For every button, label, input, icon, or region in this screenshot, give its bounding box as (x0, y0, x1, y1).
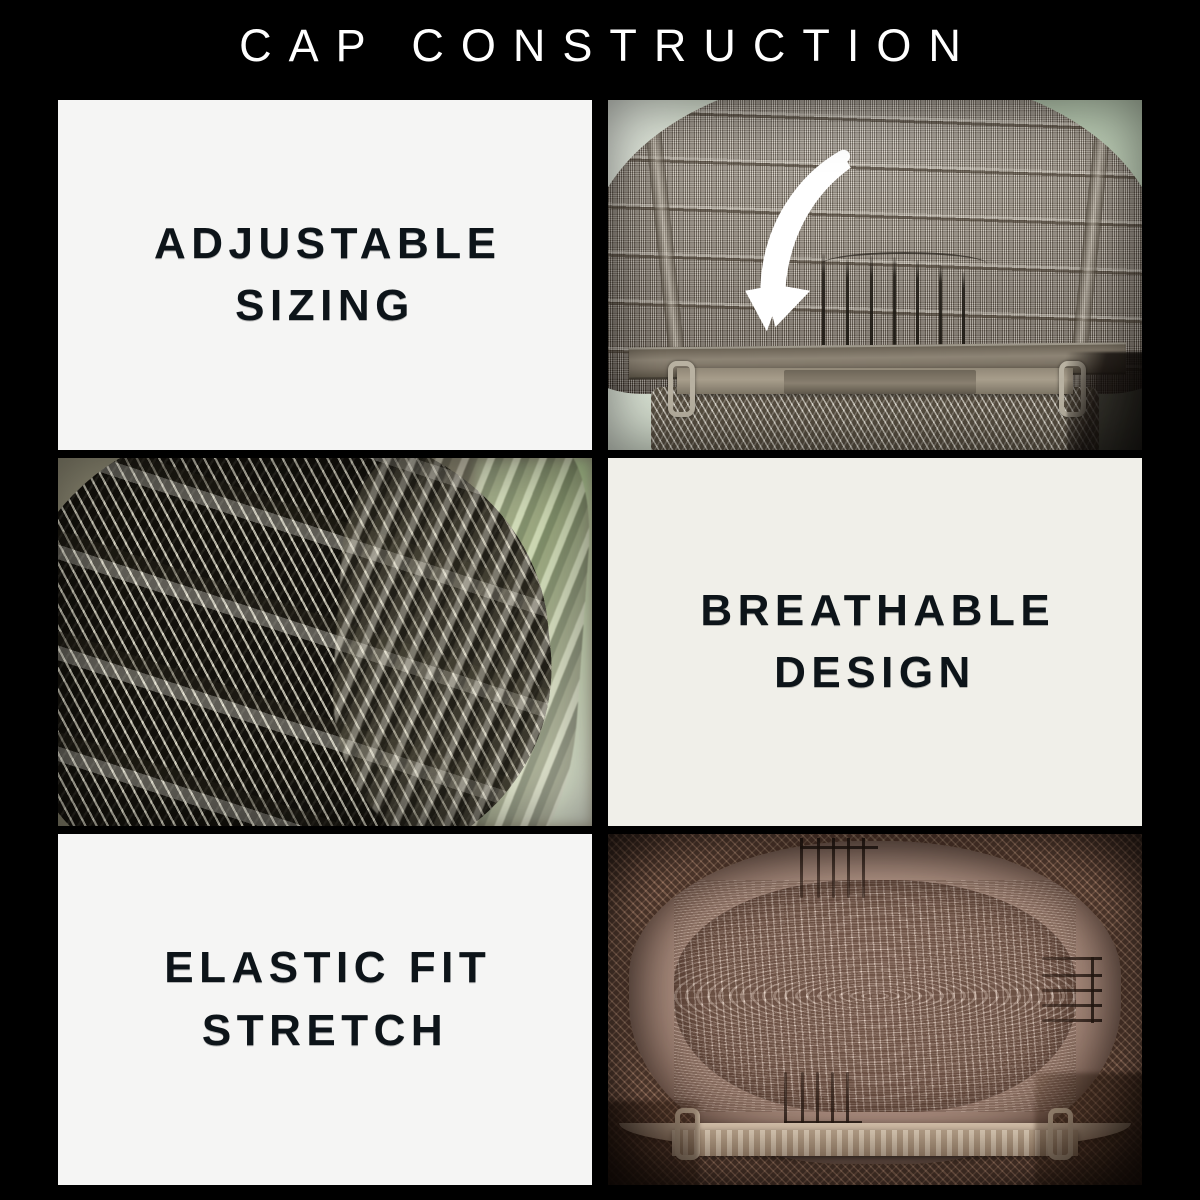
cap-lower-netting (651, 387, 1100, 450)
cap-strap-pad (784, 370, 976, 394)
feature-card-adjustable-sizing: ADJUSTABLE SIZING (58, 100, 592, 450)
curved-down-arrow-icon (704, 149, 896, 366)
cap-construction-infographic: CAP CONSTRUCTION ADJUSTABLE SIZING (0, 0, 1200, 1200)
feature-card-elastic-fit-stretch: ELASTIC FIT STRETCH (58, 834, 592, 1185)
feature-photo-breathable-mesh (58, 458, 592, 826)
wig-cap-interior-image (608, 834, 1142, 1185)
photo-vignette (58, 458, 592, 826)
cap-hair-strands-right (1067, 352, 1142, 450)
feature-photo-wig-cap-interior (608, 834, 1142, 1185)
page-title: CAP CONSTRUCTION (0, 18, 1200, 74)
breathable-mesh-image (58, 458, 592, 826)
feature-label-adjustable-sizing: ADJUSTABLE SIZING (58, 213, 592, 338)
cap-strap-hook-left (668, 361, 695, 417)
wig-cap-back-image (608, 100, 1142, 450)
feature-photo-wig-cap-back (608, 100, 1142, 450)
feature-grid: ADJUSTABLE SIZING (58, 100, 1142, 1185)
photo-vignette (608, 834, 1142, 1185)
feature-label-breathable-design: BREATHABLE DESIGN (608, 580, 1142, 705)
feature-label-elastic-fit-stretch: ELASTIC FIT STRETCH (58, 937, 592, 1062)
feature-card-breathable-design: BREATHABLE DESIGN (608, 458, 1142, 826)
